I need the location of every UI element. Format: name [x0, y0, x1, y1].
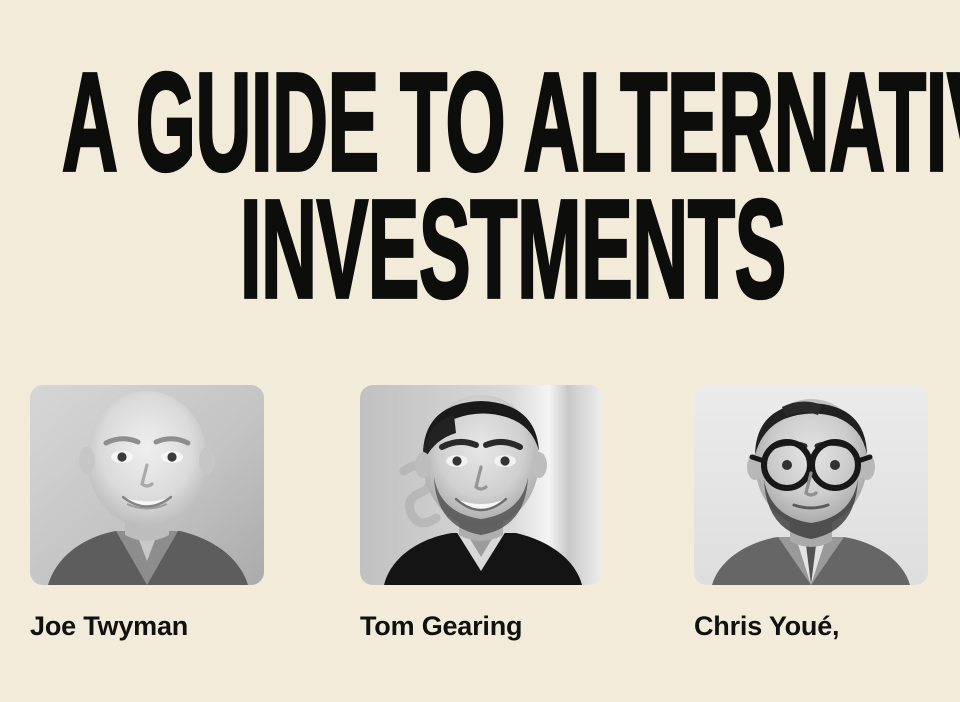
- speaker-card-2[interactable]: Chris Youé,: [694, 385, 928, 642]
- speaker-card-1[interactable]: Tom Gearing: [360, 385, 602, 642]
- page-title: A GUIDE TO ALTERNATIVE INVESTMENTS: [0, 62, 960, 302]
- page-title-line-1: A GUIDE TO ALTERNATIVE: [62, 62, 587, 182]
- speaker-name-0: Joe Twyman: [30, 611, 264, 642]
- speaker-name-1: Tom Gearing: [360, 611, 602, 642]
- speaker-photo-1: [360, 385, 602, 585]
- speaker-list: Joe Twyman: [0, 385, 960, 645]
- speaker-name-2: Chris Youé,: [694, 611, 928, 642]
- speaker-card-0[interactable]: Joe Twyman: [30, 385, 264, 642]
- speaker-photo-0: [30, 385, 264, 585]
- page-title-line-2: INVESTMENTS: [240, 189, 661, 309]
- speaker-photo-2: [694, 385, 928, 585]
